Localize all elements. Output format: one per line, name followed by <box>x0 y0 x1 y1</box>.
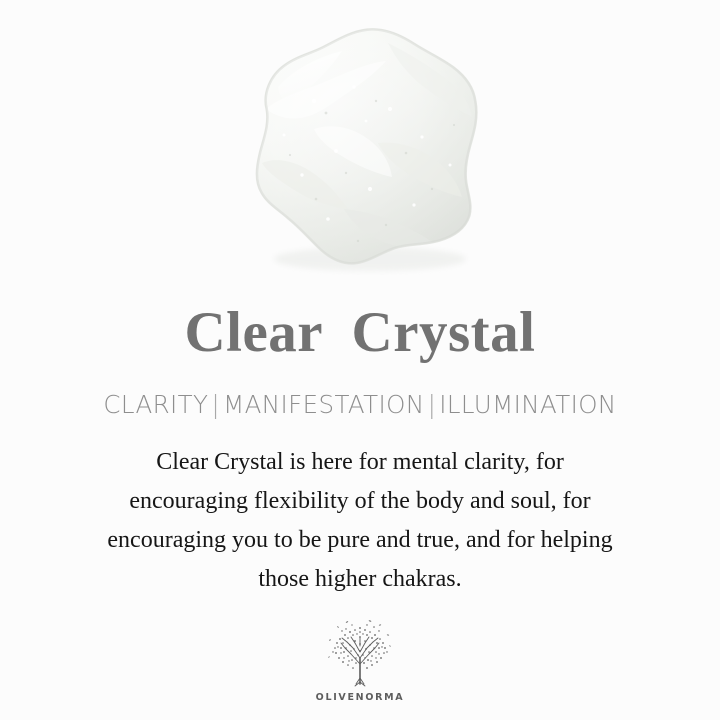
brand-logo: OLIVENORMA <box>0 618 720 703</box>
keyword-illumination: ILLUMINATION <box>439 390 616 419</box>
product-description: Clear Crystal is here for mental clarity… <box>40 443 680 599</box>
keyword-separator-2: | <box>425 390 440 419</box>
product-image-container <box>0 0 720 288</box>
keyword-list: CLARITY|MANIFESTATION|ILLUMINATION <box>103 392 616 419</box>
keyword-clarity: CLARITY <box>103 390 208 419</box>
description-line-3: encouraging you to be pure and true, and… <box>40 521 680 560</box>
clear-crystal-raw-stone-image <box>218 13 508 275</box>
description-line-1: Clear Crystal is here for mental clarity… <box>40 443 680 482</box>
page-title: Clear Crystal <box>184 304 535 361</box>
description-line-2: encouraging flexibility of the body and … <box>40 482 680 521</box>
description-line-4: those higher chakras. <box>40 560 680 599</box>
product-info-card: Clear Crystal CLARITY|MANIFESTATION|ILLU… <box>0 0 720 720</box>
olive-tree-icon <box>322 618 398 690</box>
keyword-separator-1: | <box>208 390 223 419</box>
brand-wordmark: OLIVENORMA <box>316 692 405 703</box>
keyword-manifestation: MANIFESTATION <box>223 390 425 419</box>
